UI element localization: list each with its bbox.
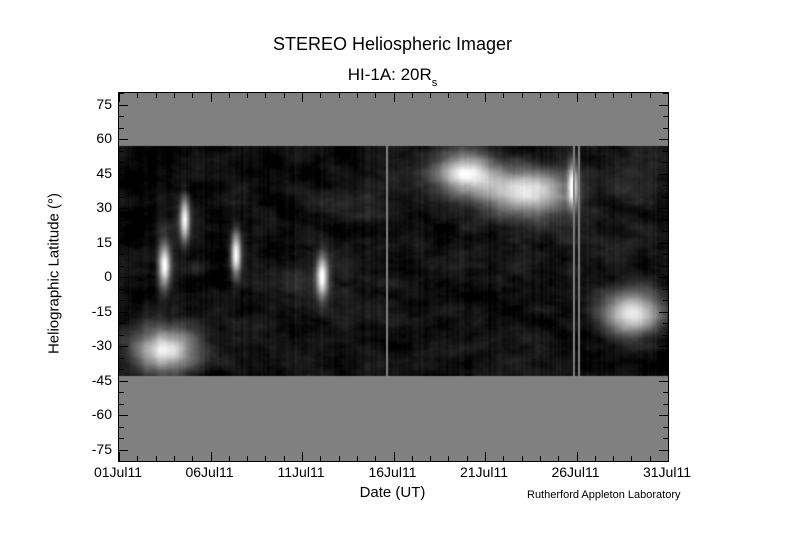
x-tick-label: 26Jul11 [531, 464, 621, 480]
y-tick-label: 75 [72, 97, 112, 111]
x-tick-label: 01Jul11 [73, 464, 163, 480]
y-tick-label: 60 [72, 131, 112, 145]
plot-area[interactable] [118, 92, 669, 462]
figure-subtitle: HI-1A: 20Rs [0, 64, 785, 92]
y-tick-label: -15 [72, 304, 112, 318]
y-tick-label: -75 [72, 442, 112, 456]
x-axis-tick-labels: 01Jul1106Jul1111Jul1116Jul1121Jul1126Jul… [118, 464, 667, 484]
x-tick-label: 31Jul11 [622, 464, 712, 480]
y-axis-title: Heliographic Latitude (°) [46, 134, 63, 414]
page-title: STEREO Heliospheric Imager [0, 33, 785, 55]
subtitle-text: HI-1A: 20R [348, 65, 432, 84]
y-tick-label: -30 [72, 338, 112, 352]
jmap-heatmap-image [119, 93, 668, 461]
x-tick-label: 06Jul11 [165, 464, 255, 480]
y-tick-label: -60 [72, 407, 112, 421]
x-tick-label: 21Jul11 [439, 464, 529, 480]
y-tick-label: 30 [72, 200, 112, 214]
x-tick-label: 11Jul11 [256, 464, 346, 480]
y-tick-label: -45 [72, 373, 112, 387]
figure-canvas: STEREO Heliospheric Imager HI-1A: 20Rs 7… [0, 0, 785, 538]
y-axis-tick-labels: 75604530150-15-30-45-60-75 [66, 92, 112, 460]
y-tick-label: 0 [72, 269, 112, 283]
y-tick-label: 45 [72, 166, 112, 180]
credit-label: Rutherford Appleton Laboratory [527, 489, 681, 502]
y-tick-label: 15 [72, 235, 112, 249]
x-tick-label: 16Jul11 [348, 464, 438, 480]
subtitle-subscript: s [432, 77, 438, 89]
